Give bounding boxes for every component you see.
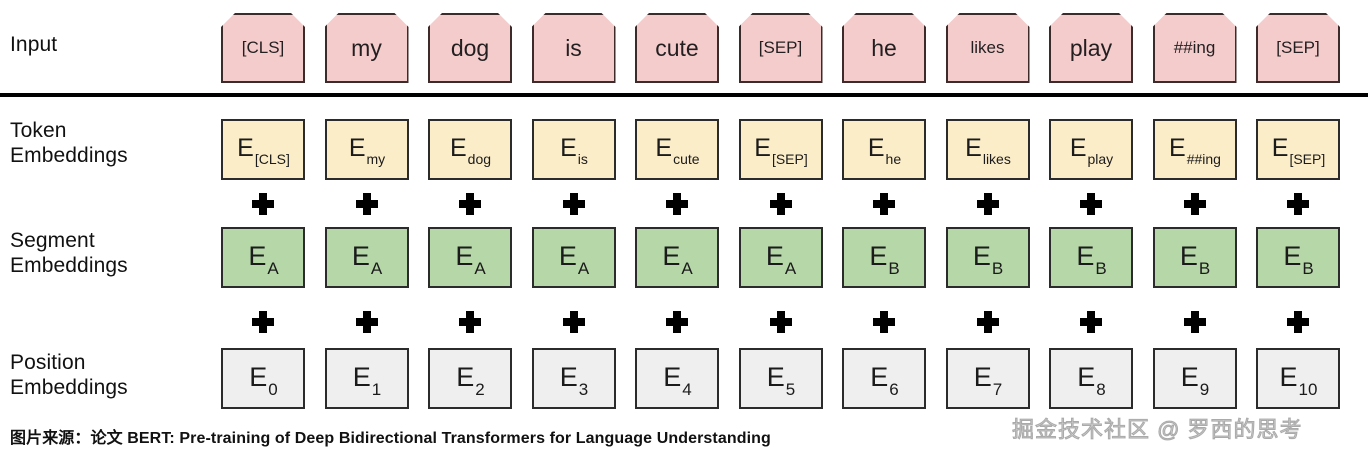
position-embedding-symbol: E5 (767, 365, 794, 393)
segment-embedding-symbol: EA (352, 244, 381, 272)
segment-embedding-subscript: A (371, 259, 382, 278)
position-embedding-base: E (456, 362, 474, 392)
plus-icon (666, 193, 688, 215)
segment-embedding-cell: EB (1049, 227, 1133, 288)
segment-embedding-base: E (1076, 241, 1094, 271)
plus-cell (946, 311, 1030, 333)
segment-embedding-subscript: A (681, 259, 692, 278)
position-embedding-base: E (1077, 362, 1095, 392)
position-embedding-cell: E5 (739, 348, 823, 409)
segment-embedding-subscript: B (992, 259, 1003, 278)
position-embedding-base: E (560, 362, 578, 392)
plus-cell (221, 193, 305, 215)
position-embedding-subscript: 6 (889, 380, 898, 399)
plus-cell (1153, 193, 1237, 215)
segment-embedding-subscript: A (474, 259, 485, 278)
input-token-text: play (1070, 35, 1112, 62)
position-embedding-subscript: 8 (1096, 380, 1105, 399)
token-embedding-symbol: Eplay (1070, 136, 1112, 164)
segment-embedding-base: E (766, 241, 784, 271)
input-token-text: [CLS] (242, 38, 285, 58)
token-embedding-cell: E[SEP] (739, 119, 823, 180)
segment-embedding-subscript: B (1302, 259, 1313, 278)
position-embedding-symbol: E0 (249, 365, 276, 393)
input-token-cell: [SEP] (739, 13, 823, 83)
position-embedding-symbol: E7 (974, 365, 1001, 393)
input-token-cell: cute (635, 13, 719, 83)
token-embedding-cell: Elikes (946, 119, 1030, 180)
token-embedding-cell: E[SEP] (1256, 119, 1340, 180)
position-embedding-cell: E4 (635, 348, 719, 409)
segment-embedding-base: E (1180, 241, 1198, 271)
token-embedding-symbol: Ehe (868, 136, 900, 164)
segment-embedding-symbol: EA (248, 244, 277, 272)
input-token-cell: likes (946, 13, 1030, 83)
row-label-position: Position Embeddings (10, 350, 128, 400)
token-embedding-subscript: is (578, 151, 588, 167)
plus-icon (977, 193, 999, 215)
token-embedding-cell: Eplay (1049, 119, 1133, 180)
segment-embedding-base: E (973, 241, 991, 271)
token-embedding-base: E (868, 134, 885, 162)
token-embedding-cell: Emy (325, 119, 409, 180)
position-embedding-subscript: 0 (268, 380, 277, 399)
plus-icon (356, 311, 378, 333)
position-embedding-symbol: E6 (870, 365, 897, 393)
segment-embedding-cell: EA (428, 227, 512, 288)
plus-cell (532, 311, 616, 333)
token-embedding-symbol: Eis (560, 136, 587, 164)
segment-embedding-base: E (455, 241, 473, 271)
segment-embedding-base: E (869, 241, 887, 271)
segment-embedding-symbol: EA (559, 244, 588, 272)
position-embedding-subscript: 3 (579, 380, 588, 399)
segment-embedding-symbol: EB (869, 244, 898, 272)
token-embedding-subscript: [CLS] (255, 151, 290, 167)
token-embedding-cell: Edog (428, 119, 512, 180)
plus-cell (842, 193, 926, 215)
position-embedding-cell: E6 (842, 348, 926, 409)
input-token-text: dog (451, 35, 489, 62)
input-token-cell: play (1049, 13, 1133, 83)
plus-cell (428, 193, 512, 215)
position-embedding-subscript: 4 (682, 380, 691, 399)
plus-cell (428, 311, 512, 333)
token-embedding-cell: Ehe (842, 119, 926, 180)
plus-icon (977, 311, 999, 333)
token-embedding-row: E[CLS]EmyEdogEisEcuteE[SEP]EheElikesEpla… (221, 119, 1340, 180)
token-embedding-subscript: likes (983, 151, 1011, 167)
token-embedding-base: E (560, 134, 577, 162)
token-embedding-base: E (349, 134, 366, 162)
input-token-cell: he (842, 13, 926, 83)
plus-icon (1080, 193, 1102, 215)
position-embedding-subscript: 5 (786, 380, 795, 399)
position-embedding-symbol: E9 (1181, 365, 1208, 393)
position-embedding-cell: E8 (1049, 348, 1133, 409)
plus-cell (635, 311, 719, 333)
token-embedding-symbol: E##ing (1169, 136, 1220, 164)
position-embedding-base: E (1181, 362, 1199, 392)
plus-icon (1287, 193, 1309, 215)
token-embedding-subscript: ##ing (1187, 151, 1221, 167)
plus-icon (873, 193, 895, 215)
position-embedding-cell: E10 (1256, 348, 1340, 409)
token-embedding-cell: Eis (532, 119, 616, 180)
token-embedding-symbol: Elikes (965, 136, 1010, 164)
segment-embedding-cell: EB (1256, 227, 1340, 288)
token-embedding-subscript: my (367, 151, 386, 167)
segment-embedding-symbol: EA (455, 244, 484, 272)
segment-embedding-symbol: EB (1180, 244, 1209, 272)
position-embedding-base: E (767, 362, 785, 392)
position-embedding-subscript: 7 (993, 380, 1002, 399)
position-embedding-cell: E2 (428, 348, 512, 409)
token-embedding-symbol: E[SEP] (1272, 136, 1324, 164)
token-embedding-subscript: [SEP] (772, 151, 808, 167)
token-embedding-subscript: he (886, 151, 902, 167)
plus-icon (1080, 311, 1102, 333)
position-embedding-symbol: E4 (663, 365, 690, 393)
segment-embedding-symbol: EB (1283, 244, 1312, 272)
token-embedding-subscript: [SEP] (1289, 151, 1325, 167)
input-token-text: cute (655, 35, 698, 62)
position-embedding-symbol: E3 (560, 365, 587, 393)
segment-embedding-cell: EA (532, 227, 616, 288)
segment-embedding-base: E (248, 241, 266, 271)
input-token-text: likes (970, 38, 1004, 58)
token-embedding-base: E (237, 134, 254, 162)
segment-embedding-row: EAEAEAEAEAEAEBEBEBEBEB (221, 227, 1340, 288)
plus-operator-row-2 (221, 311, 1340, 333)
position-embedding-cell: E1 (325, 348, 409, 409)
position-embedding-symbol: E10 (1280, 365, 1317, 393)
token-embedding-symbol: Emy (349, 136, 384, 164)
position-embedding-base: E (1280, 362, 1298, 392)
plus-icon (770, 193, 792, 215)
input-token-cell: ##ing (1153, 13, 1237, 83)
plus-cell (532, 193, 616, 215)
segment-embedding-subscript: B (1199, 259, 1210, 278)
plus-icon (252, 193, 274, 215)
plus-cell (325, 193, 409, 215)
plus-cell (325, 311, 409, 333)
input-token-cell: [SEP] (1256, 13, 1340, 83)
token-embedding-base: E (1169, 134, 1186, 162)
position-embedding-cell: E7 (946, 348, 1030, 409)
position-embedding-base: E (249, 362, 267, 392)
position-embedding-base: E (353, 362, 371, 392)
segment-embedding-cell: EA (635, 227, 719, 288)
input-token-cell: [CLS] (221, 13, 305, 83)
segment-embedding-subscript: A (267, 259, 278, 278)
position-embedding-row: E0E1E2E3E4E5E6E7E8E9E10 (221, 348, 1340, 409)
position-embedding-base: E (974, 362, 992, 392)
position-embedding-cell: E3 (532, 348, 616, 409)
plus-icon (252, 311, 274, 333)
segment-embedding-symbol: EB (1076, 244, 1105, 272)
segment-embedding-subscript: B (1095, 259, 1106, 278)
segment-embedding-base: E (1283, 241, 1301, 271)
token-embedding-symbol: Edog (450, 136, 490, 164)
token-embedding-cell: Ecute (635, 119, 719, 180)
input-token-text: is (565, 35, 582, 62)
plus-cell (1256, 193, 1340, 215)
plus-cell (842, 311, 926, 333)
position-embedding-subscript: 2 (475, 380, 484, 399)
plus-cell (1049, 311, 1133, 333)
input-token-cell: dog (428, 13, 512, 83)
segment-embedding-symbol: EB (973, 244, 1002, 272)
segment-embedding-subscript: B (888, 259, 899, 278)
position-embedding-subscript: 10 (1299, 380, 1318, 399)
plus-operator-row-1 (221, 193, 1340, 215)
plus-cell (739, 193, 823, 215)
plus-icon (1184, 311, 1206, 333)
segment-embedding-cell: EB (946, 227, 1030, 288)
segment-embedding-base: E (352, 241, 370, 271)
position-embedding-subscript: 9 (1200, 380, 1209, 399)
position-embedding-symbol: E1 (353, 365, 380, 393)
token-embedding-base: E (754, 134, 771, 162)
plus-icon (356, 193, 378, 215)
token-embedding-base: E (1272, 134, 1289, 162)
token-embedding-symbol: Ecute (655, 136, 698, 164)
token-embedding-subscript: dog (468, 151, 491, 167)
plus-icon (770, 311, 792, 333)
input-token-text: he (871, 35, 897, 62)
plus-cell (1256, 311, 1340, 333)
segment-embedding-symbol: EA (662, 244, 691, 272)
input-token-text: my (351, 35, 382, 62)
source-caption: 图片来源：论文 BERT: Pre-training of Deep Bidir… (10, 424, 771, 448)
segment-embedding-symbol: EA (766, 244, 795, 272)
segment-embedding-subscript: A (785, 259, 796, 278)
segment-embedding-cell: EB (842, 227, 926, 288)
token-embedding-base: E (450, 134, 467, 162)
position-embedding-base: E (870, 362, 888, 392)
token-embedding-base: E (1070, 134, 1087, 162)
segment-embedding-cell: EA (739, 227, 823, 288)
position-embedding-subscript: 1 (372, 380, 381, 399)
input-token-text: ##ing (1174, 38, 1216, 58)
plus-cell (1049, 193, 1133, 215)
input-token-text: [SEP] (1276, 38, 1319, 58)
plus-icon (873, 311, 895, 333)
input-token-text: [SEP] (759, 38, 802, 58)
plus-cell (221, 311, 305, 333)
segment-embedding-cell: EA (325, 227, 409, 288)
plus-cell (739, 311, 823, 333)
token-embedding-cell: E[CLS] (221, 119, 305, 180)
plus-icon (1287, 311, 1309, 333)
position-embedding-cell: E9 (1153, 348, 1237, 409)
token-embedding-cell: E##ing (1153, 119, 1237, 180)
position-embedding-symbol: E2 (456, 365, 483, 393)
plus-icon (563, 311, 585, 333)
segment-embedding-base: E (559, 241, 577, 271)
segment-embedding-cell: EB (1153, 227, 1237, 288)
token-embedding-base: E (655, 134, 672, 162)
row-label-segment: Segment Embeddings (10, 228, 128, 278)
section-divider (0, 93, 1368, 97)
plus-icon (1184, 193, 1206, 215)
token-embedding-subscript: play (1088, 151, 1114, 167)
position-embedding-symbol: E8 (1077, 365, 1104, 393)
row-label-input: Input (10, 32, 57, 57)
segment-embedding-base: E (662, 241, 680, 271)
token-embedding-symbol: E[CLS] (237, 136, 289, 164)
input-token-cell: is (532, 13, 616, 83)
token-embedding-subscript: cute (673, 151, 699, 167)
plus-icon (563, 193, 585, 215)
segment-embedding-cell: EA (221, 227, 305, 288)
plus-cell (946, 193, 1030, 215)
input-token-cell: my (325, 13, 409, 83)
plus-icon (459, 193, 481, 215)
segment-embedding-subscript: A (578, 259, 589, 278)
plus-cell (635, 193, 719, 215)
position-embedding-base: E (663, 362, 681, 392)
position-embedding-cell: E0 (221, 348, 305, 409)
plus-cell (1153, 311, 1237, 333)
plus-icon (666, 311, 688, 333)
plus-icon (459, 311, 481, 333)
token-embedding-symbol: E[SEP] (754, 136, 806, 164)
input-token-row: [CLS]mydogiscute[SEP]helikesplay##ing[SE… (221, 13, 1340, 83)
row-label-token: Token Embeddings (10, 118, 128, 168)
watermark: 掘金技术社区 @ 罗西的思考 (1012, 412, 1303, 444)
token-embedding-base: E (965, 134, 982, 162)
